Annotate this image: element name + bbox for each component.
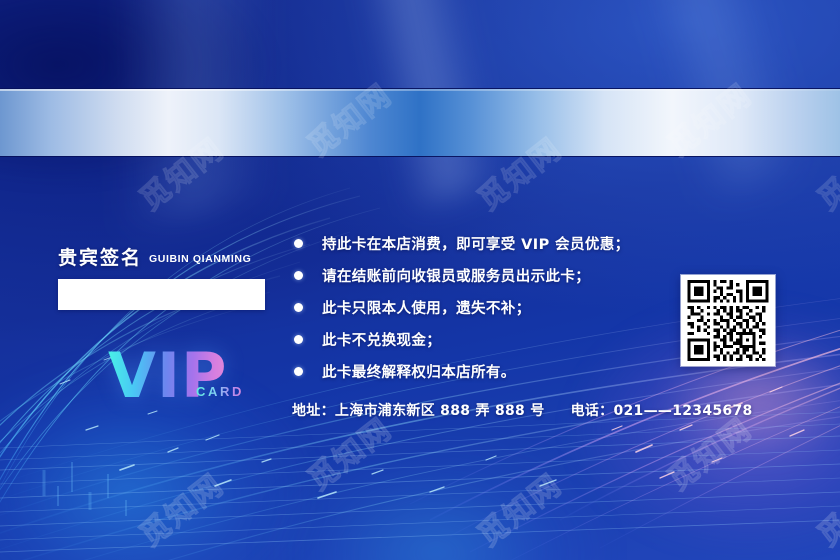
term-text: 此卡不兑换现金；	[322, 329, 441, 350]
list-item: 此卡只限本人使用，遗失不补；	[294, 291, 694, 323]
phone-label: 电话：	[571, 403, 614, 419]
term-text: 此卡最终解释权归本店所有。	[322, 361, 516, 382]
qr-code[interactable]	[681, 275, 775, 366]
contact-line: 地址：上海市浦东新区 888 弄 888 号电话：021——12345678	[292, 400, 753, 420]
phone-value: 021——12345678	[613, 403, 752, 419]
bullet-icon	[294, 335, 303, 344]
terms-list: 持此卡在本店消费，即可享受 VIP 会员优惠； 请在结账前向收银员或服务员出示此…	[294, 227, 694, 387]
address-label: 地址：	[292, 403, 335, 419]
term-text: 持此卡在本店消费，即可享受 VIP 会员优惠；	[322, 233, 630, 254]
bullet-icon	[294, 303, 303, 312]
bullet-icon	[294, 271, 303, 280]
signature-label: 贵宾签名GUIBIN QIANMING	[58, 243, 288, 270]
term-text: 请在结账前向收银员或服务员出示此卡；	[322, 265, 590, 286]
vip-card-artboard: 觅知网 觅知网 觅知网 觅知网 觅知网 觅知网 觅知网 觅知网 觅知网 觅知网 …	[0, 0, 840, 560]
bullet-icon	[294, 239, 303, 248]
metallic-banner-stripe	[0, 89, 840, 156]
banner-top-highlight	[0, 89, 840, 91]
list-item: 此卡不兑换现金；	[294, 323, 694, 355]
signature-label-cn: 贵宾签名	[58, 247, 142, 269]
list-item: 请在结账前向收银员或服务员出示此卡；	[294, 259, 694, 291]
bullet-icon	[294, 367, 303, 376]
vip-card-subtitle: CARD	[196, 384, 244, 399]
signature-input-box[interactable]	[58, 279, 265, 310]
address-value: 上海市浦东新区 888 弄 888 号	[335, 403, 545, 419]
signature-label-en: GUIBIN QIANMING	[149, 253, 251, 265]
list-item: 持此卡在本店消费，即可享受 VIP 会员优惠；	[294, 227, 694, 259]
signature-block: 贵宾签名GUIBIN QIANMING	[58, 243, 288, 310]
qr-code-image	[686, 280, 770, 361]
list-item: 此卡最终解释权归本店所有。	[294, 355, 694, 387]
term-text: 此卡只限本人使用，遗失不补；	[322, 297, 531, 318]
